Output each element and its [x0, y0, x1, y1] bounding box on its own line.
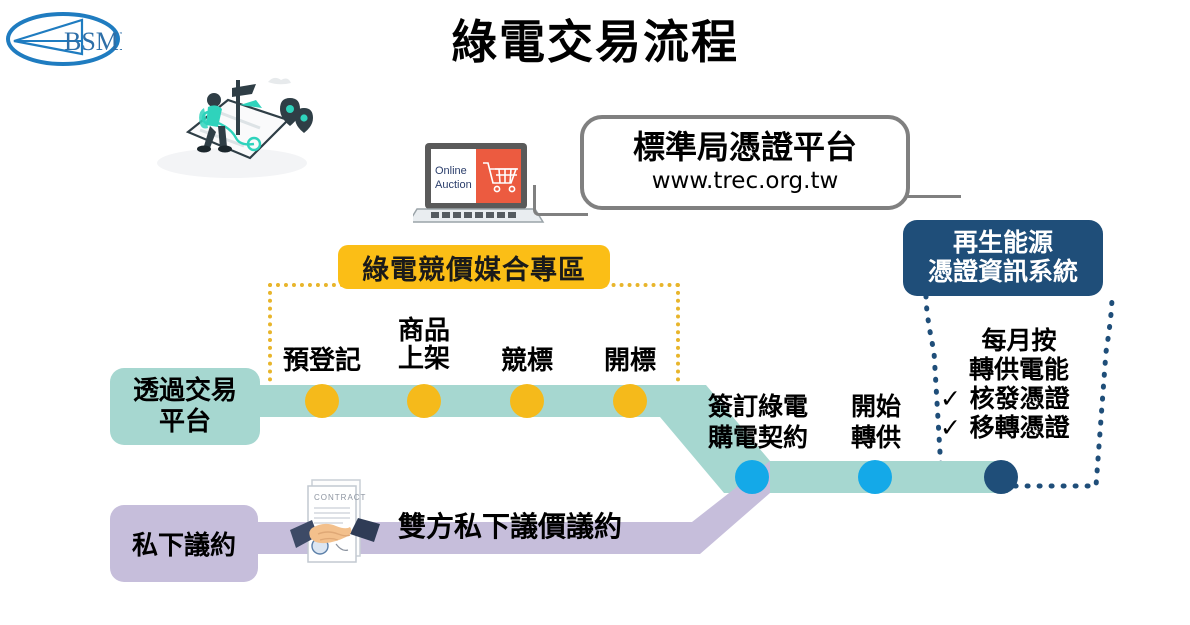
- rec-system-box-line1: 再生能源: [953, 229, 1053, 258]
- entry-platform-line1: 透過交易: [133, 376, 237, 407]
- step-label-3: 開標: [570, 348, 690, 376]
- milestone-dot-contract: [735, 460, 769, 494]
- milestone-transfer-line1: 開始: [830, 392, 922, 423]
- rec-system-box-line2: 憑證資訊系統: [928, 258, 1078, 287]
- rec-check-0: ✓ 核發憑證: [924, 384, 1114, 413]
- milestone-contract-line2: 購電契約: [688, 423, 828, 454]
- step-label-1: 商品 上架: [364, 318, 484, 373]
- laptop-screen-line2: Auction: [435, 179, 472, 191]
- callout-url[interactable]: www.trec.org.tw: [652, 167, 839, 196]
- private-track-label: 雙方私下議價議約: [398, 505, 622, 545]
- handshake-contract-icon: CONTRACT: [288, 478, 386, 566]
- step-2-line1: 競標: [467, 348, 587, 376]
- step-3-line1: 開標: [570, 348, 690, 376]
- entry-box-platform[interactable]: 透過交易 平台: [110, 368, 260, 445]
- step-1-line1: 商品: [364, 318, 484, 346]
- rec-note-line2: 轉供電能: [924, 355, 1114, 384]
- laptop-screen-line1: Online: [435, 165, 467, 177]
- rec-system-notes: 每月按 轉供電能 ✓ 核發憑證 ✓ 移轉憑證: [924, 326, 1114, 442]
- trec-platform-callout: 標準局憑證平台 www.trec.org.tw: [580, 115, 910, 210]
- auction-zone-label: 綠電競價媒合專區: [338, 245, 610, 289]
- milestone-contract-line1: 簽訂綠電: [688, 392, 828, 423]
- milestone-label-transfer: 開始 轉供: [830, 392, 922, 453]
- callout-recsystem-connector: [905, 195, 961, 198]
- rec-system-box: 再生能源 憑證資訊系統: [903, 220, 1103, 296]
- map-illustration: [140, 60, 315, 180]
- rec-check-1: ✓ 移轉憑證: [924, 413, 1114, 442]
- rec-note-line1: 每月按: [924, 326, 1114, 355]
- milestone-label-contract: 簽訂綠電 購電契約: [688, 392, 828, 453]
- bsmi-logo: BSMI: [4, 8, 122, 70]
- step-1-line2: 上架: [364, 346, 484, 374]
- svg-text:CONTRACT: CONTRACT: [314, 493, 366, 502]
- milestone-dot-transfer: [858, 460, 892, 494]
- milestone-transfer-line2: 轉供: [830, 423, 922, 454]
- entry-private-label: 私下議約: [132, 525, 236, 562]
- callout-title: 標準局憑證平台: [633, 130, 857, 165]
- entry-box-private[interactable]: 私下議約: [110, 505, 258, 582]
- online-auction-laptop: Online Auction: [413, 138, 548, 228]
- diagram-canvas: 綠電交易流程 BSMI: [0, 0, 1190, 625]
- step-label-2: 競標: [467, 348, 587, 376]
- bsmi-logo-text: BSMI: [64, 27, 122, 56]
- entry-platform-line2: 平台: [159, 407, 211, 438]
